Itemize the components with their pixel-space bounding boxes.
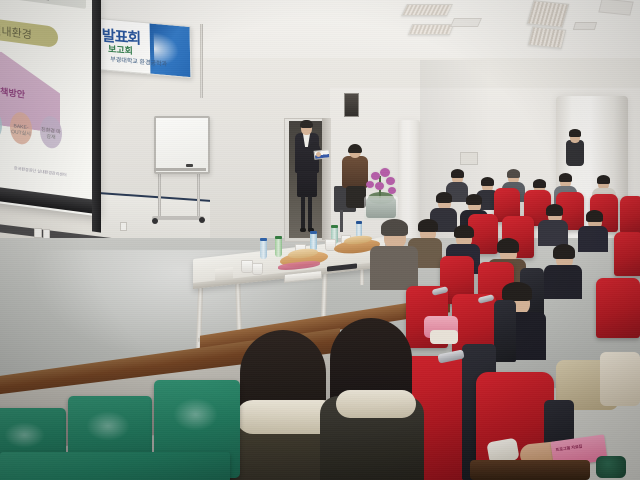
person-hair [481, 177, 494, 186]
green-bench-seat-cushion [0, 452, 230, 480]
person-hair [436, 192, 452, 203]
whiteboard-tray [154, 168, 206, 171]
presenter-leg [301, 196, 305, 230]
ceiling-light [408, 24, 454, 35]
orchid-pot [366, 198, 396, 218]
door-panel [322, 118, 331, 240]
person-hair [502, 282, 532, 301]
slide-subheading-text: 쾌적한 실내환경 [0, 13, 58, 49]
auditorium-seat [620, 196, 640, 234]
ceiling-vent [450, 18, 482, 27]
napkin-holder [215, 267, 233, 281]
seat-row-rail [470, 460, 590, 480]
auditorium-seat [614, 232, 640, 276]
whiteboard-marker [186, 164, 193, 167]
person-hair [451, 169, 464, 178]
person-shoulders [370, 246, 418, 290]
person-shoulders [544, 265, 582, 299]
ceiling-light [528, 26, 567, 49]
ceiling-vent [573, 22, 597, 30]
shearling-collar [336, 390, 416, 418]
slide-bubble-label: 친환경 마감재 [40, 115, 62, 142]
person-hair [546, 204, 563, 216]
orchid-flower [380, 168, 390, 177]
person-shoulders [578, 226, 608, 252]
wall-socket [34, 228, 42, 238]
person-hair [418, 219, 438, 232]
slide-bubble: BAKE-OUT실시 [10, 111, 32, 146]
person-jacket [342, 156, 368, 188]
person-shoulders [538, 220, 568, 246]
person-hair [381, 219, 408, 236]
person-hair [454, 225, 474, 238]
person-hair [559, 173, 572, 182]
auditorium-seat-back [494, 300, 516, 362]
person-hair [586, 210, 603, 222]
presenter [292, 122, 322, 242]
person-hair [553, 244, 575, 259]
slide-heading-text: 실내공기질 대책방안 [0, 0, 86, 10]
tissue-pack [430, 330, 458, 344]
presenter-leg [308, 196, 312, 230]
projected-slide: 실내공기질 대책방안 쾌적한 실내환경 실내공기질 대책방안 환기 흡연구역 추… [0, 0, 98, 208]
wall-speaker [344, 93, 359, 117]
orchid-flower [366, 181, 374, 188]
orchid-flower [371, 172, 380, 180]
slide-bubble: 친환경 마감재 [40, 115, 62, 150]
water-bottle [275, 236, 282, 257]
water-bottle [260, 238, 267, 259]
person-hair [533, 179, 546, 188]
slide-bubble: 흡연구역 추가설치 [0, 107, 2, 142]
person-hair [348, 144, 362, 153]
orchid-flower [386, 177, 395, 185]
presenter-shoe [300, 228, 306, 232]
person-hair [466, 194, 482, 205]
caster-wheel [199, 217, 205, 223]
caster-wheel [152, 218, 158, 224]
slide-footer: 한국환경공단 실내환경관리센터 [14, 165, 70, 178]
coat-bundle [600, 352, 640, 406]
side-chair-leg [340, 210, 343, 232]
drink-can [596, 456, 626, 478]
wall-plate [460, 152, 478, 165]
person-legs [346, 186, 366, 208]
person-hair [507, 169, 520, 178]
ceiling-light [401, 4, 453, 16]
standing-person [566, 140, 584, 166]
projection-screen: 실내공기질 대책방안 쾌적한 실내환경 실내공기질 대책방안 환기 흡연구역 추… [0, 0, 122, 226]
presenter-skirt [297, 171, 317, 197]
mobile-whiteboard [154, 116, 210, 174]
slide-bubble-label: BAKE-OUT실시 [10, 111, 32, 138]
banner-pole [200, 24, 203, 98]
presenter-hand [316, 152, 321, 157]
slide-title-bar: 실내공기질 대책방안 [0, 0, 86, 9]
person-hair [497, 238, 519, 253]
person-hair [597, 175, 610, 184]
photograph-auditorium-presentation: 발표회 보고회 부경대학교 환경공학과 실내공기질 대책방안 쾌적한 실내환경 … [0, 0, 640, 480]
presenter-hair [300, 120, 313, 128]
orchid-flower [375, 182, 384, 190]
paper-cup [252, 263, 263, 275]
slide-subheading-pill: 쾌적한 실내환경 [0, 13, 58, 48]
slide-bubble-label: 흡연구역 추가설치 [0, 107, 2, 134]
whiteboard-base [152, 216, 204, 220]
screen-side-edge [92, 0, 101, 233]
person-hair [569, 129, 581, 137]
auditorium-seat [596, 278, 640, 338]
ceiling-light [527, 0, 570, 28]
